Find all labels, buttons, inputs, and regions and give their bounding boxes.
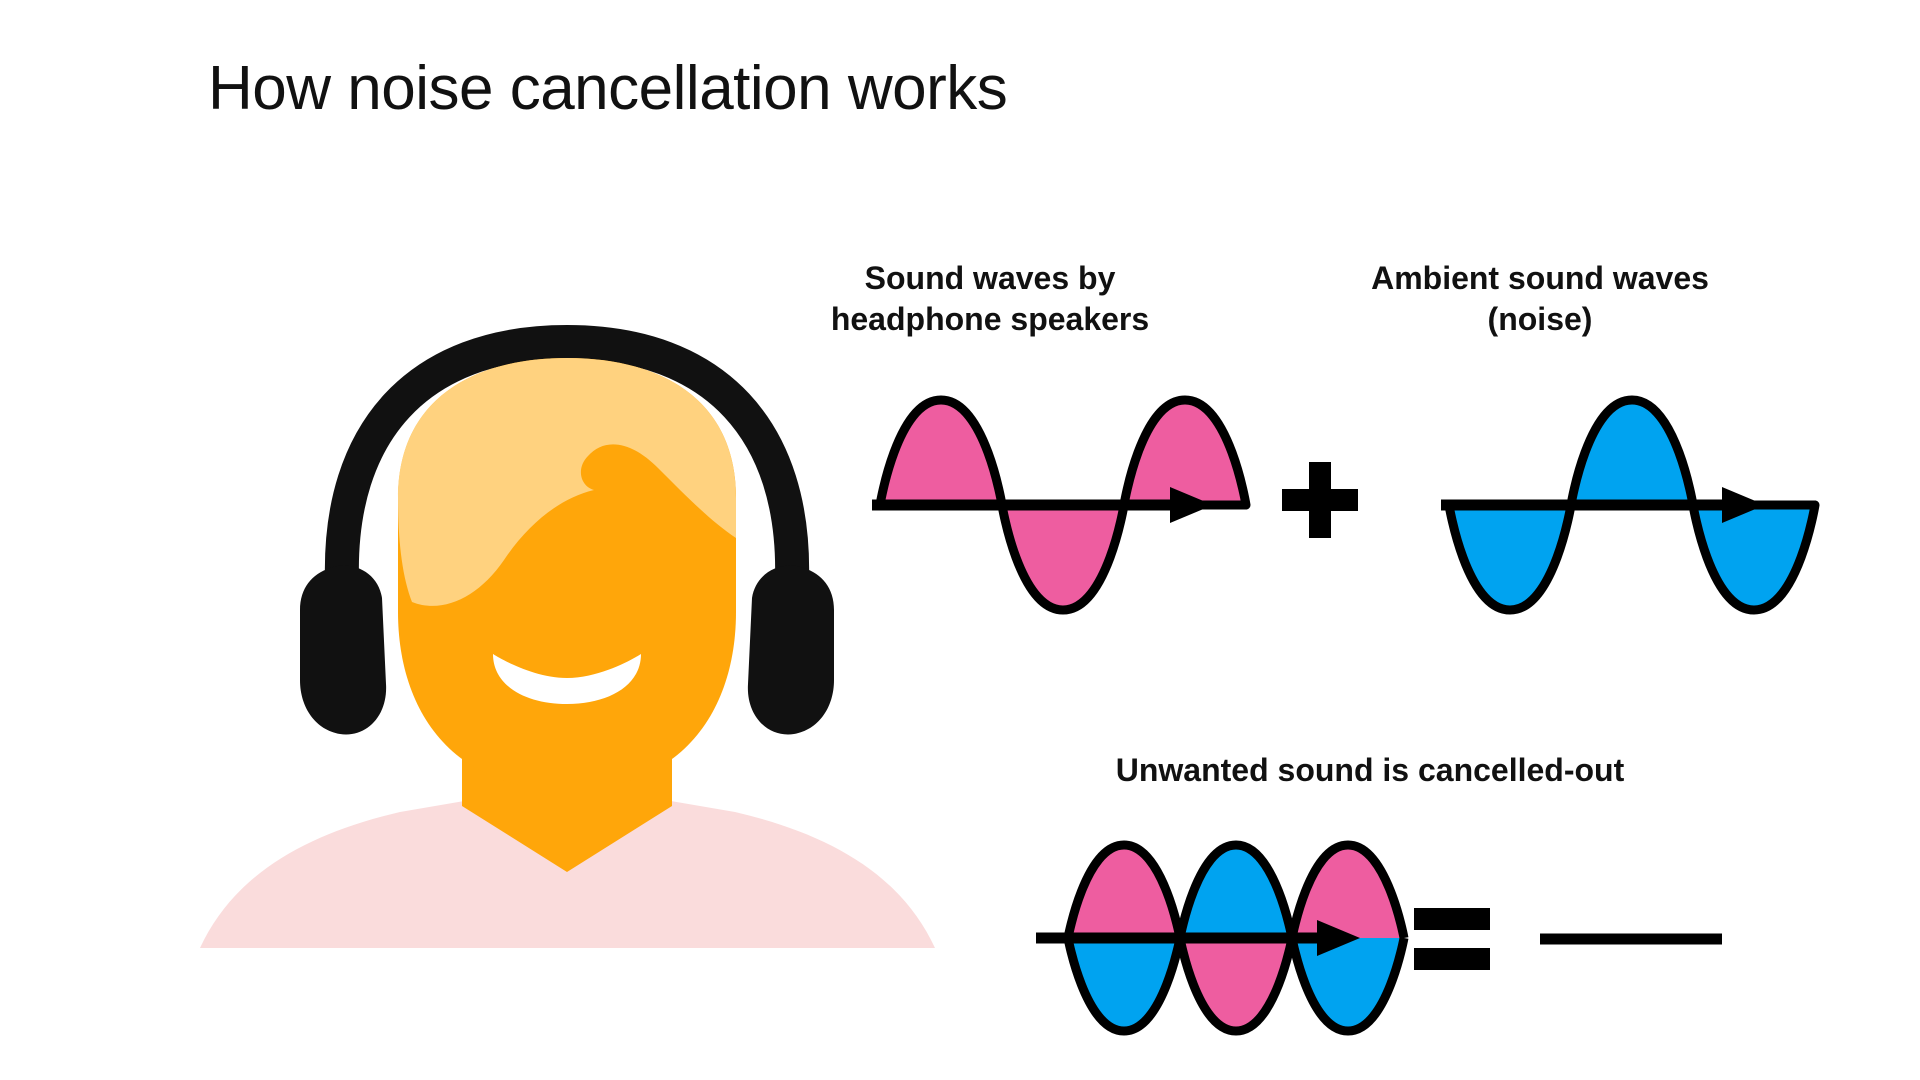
label-speaker-line2: headphone speakers (790, 299, 1190, 340)
smile (493, 654, 641, 704)
label-ambient-line1: Ambient sound waves (1320, 258, 1760, 299)
page-title: How noise cancellation works (208, 55, 1007, 123)
wave-speaker-pink-fill (880, 400, 1246, 610)
label-speaker-waves: Sound waves by headphone speakers (790, 258, 1190, 340)
plus-operator (1282, 462, 1358, 538)
hair (398, 358, 736, 606)
label-cancelled-out: Unwanted sound is cancelled-out (960, 750, 1780, 791)
wave-ambient-axis (1441, 487, 1765, 523)
wave-combined-pink (1068, 845, 1404, 1031)
wave-combined-blue-outline (1068, 845, 1404, 1031)
person-figure (200, 342, 935, 948)
neck (462, 700, 672, 872)
label-speaker-line1: Sound waves by (790, 258, 1190, 299)
headphone-band (342, 342, 792, 580)
wave-combined (1036, 845, 1404, 1031)
wave-speaker-pink (872, 400, 1246, 610)
infographic-canvas: How noise cancellation works Sound waves… (0, 0, 1920, 1080)
label-ambient-line2: (noise) (1320, 299, 1760, 340)
headphone-earcup-left (300, 566, 386, 735)
wave-ambient-blue-fill (1449, 400, 1815, 610)
wave-ambient-blue (1441, 400, 1815, 610)
label-ambient-waves: Ambient sound waves (noise) (1320, 258, 1760, 340)
headphone-earcup-right (748, 566, 834, 735)
wave-speaker-axis (872, 487, 1213, 523)
equals-operator (1414, 908, 1490, 970)
wave-combined-pink-outline (1068, 845, 1404, 1031)
illustration-stage (0, 0, 1920, 1080)
wave-combined-blue (1068, 845, 1404, 1031)
shirt-shoulders (200, 800, 935, 948)
wave-combined-axis (1036, 920, 1360, 956)
face (398, 358, 736, 790)
